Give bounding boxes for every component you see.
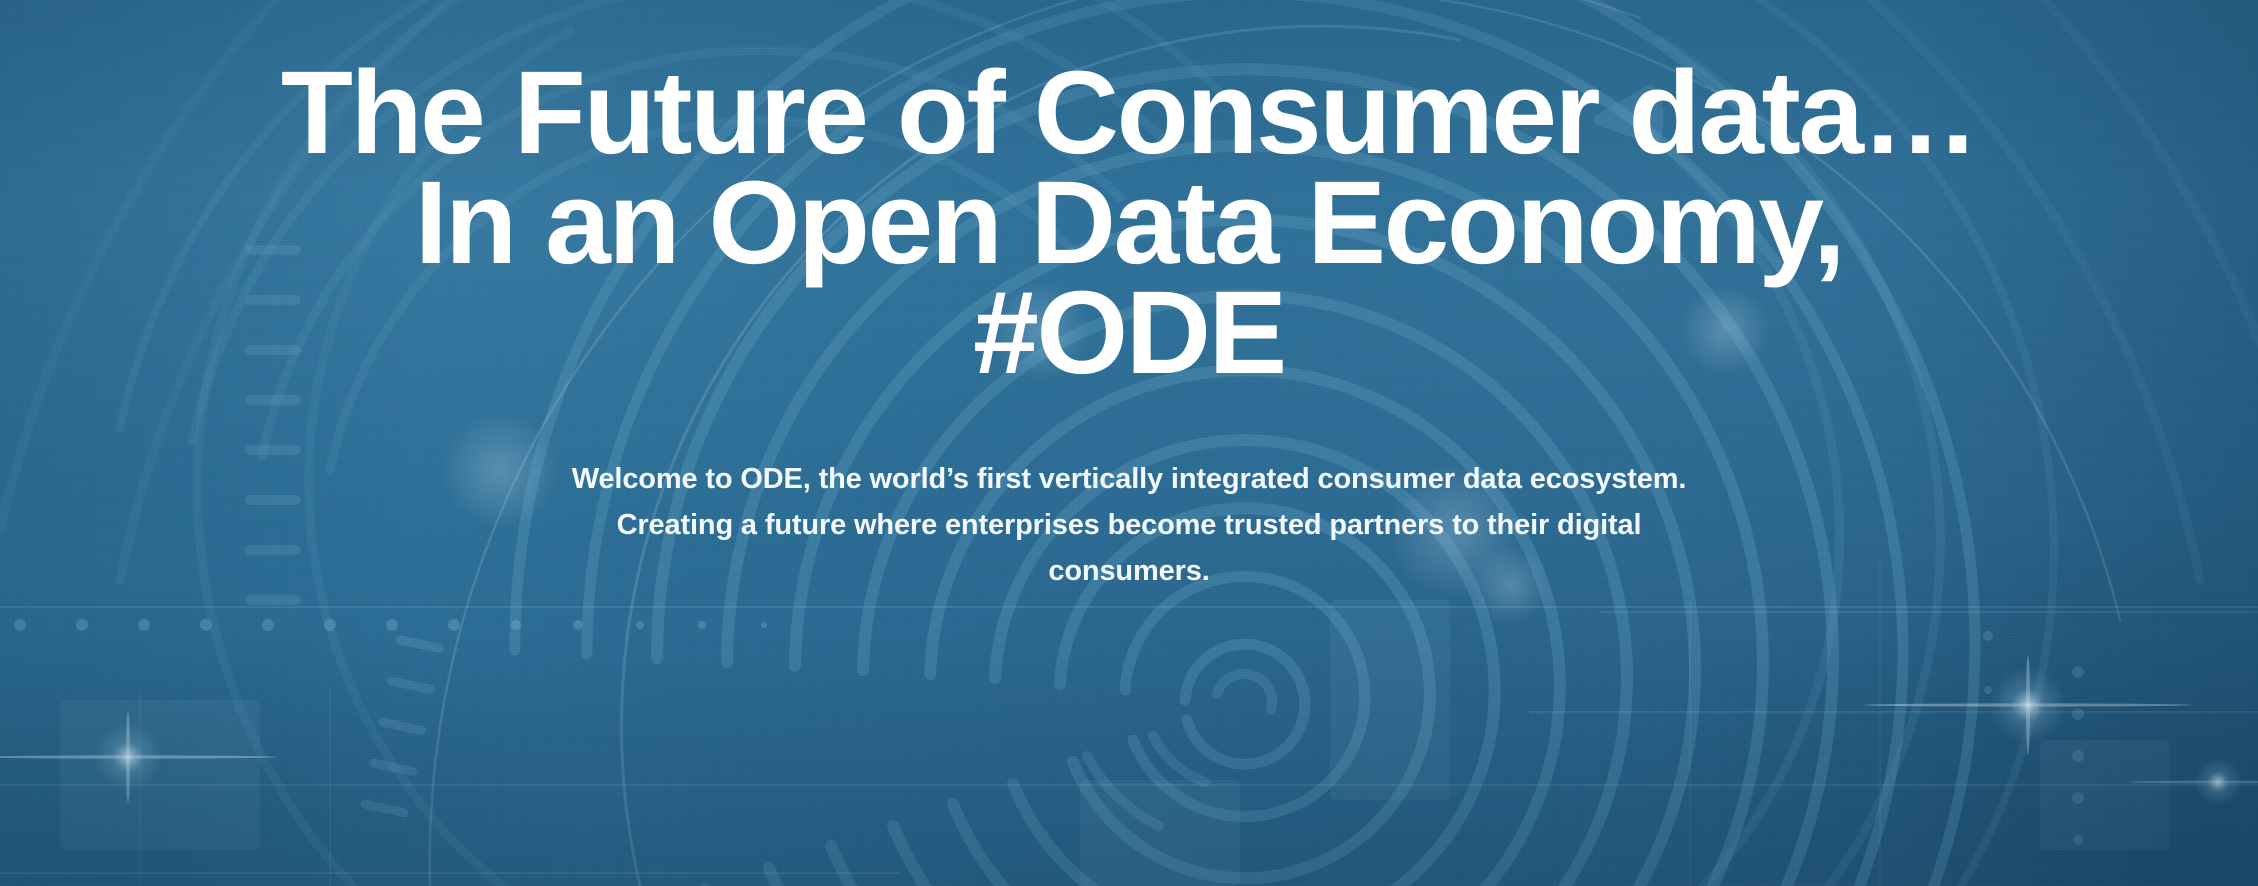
heading-line-3-hashtag: #ODE (0, 278, 2258, 388)
heading-line-2: In an Open Data Economy, (0, 168, 2258, 278)
subtitle-line-2: Creating a future where enterprises beco… (529, 502, 1729, 548)
hero-banner: The Future of Consumer data… In an Open … (0, 0, 2258, 886)
hero-subtitle: Welcome to ODE, the world’s first vertic… (529, 456, 1729, 594)
hero-content: The Future of Consumer data… In an Open … (0, 0, 2258, 886)
subtitle-line-3: consumers. (529, 548, 1729, 594)
subtitle-line-1: Welcome to ODE, the world’s first vertic… (529, 456, 1729, 502)
page-title: The Future of Consumer data… In an Open … (0, 58, 2258, 388)
heading-line-1: The Future of Consumer data… (0, 58, 2258, 168)
